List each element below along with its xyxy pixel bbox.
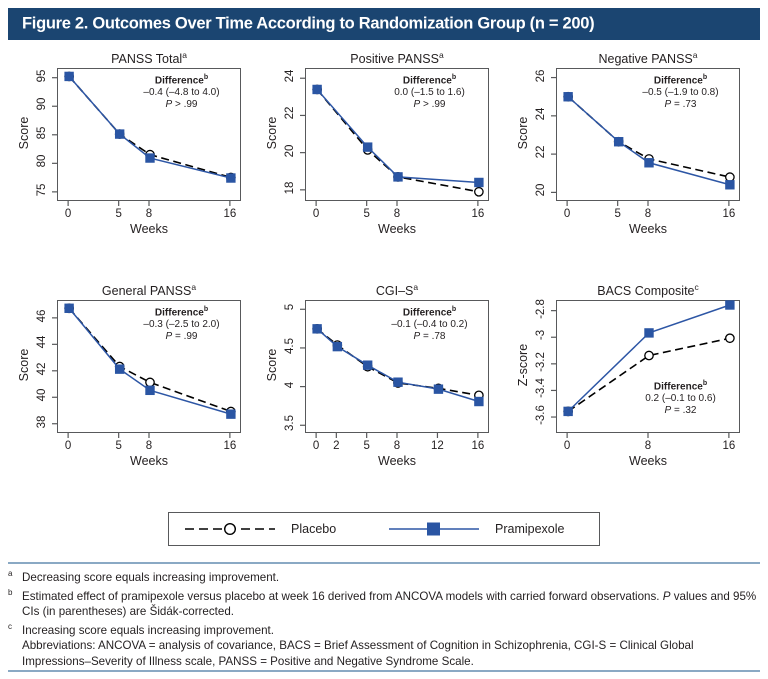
placebo-legend-swatch [183, 520, 279, 538]
annotation-pvalue: P = .32 [627, 405, 734, 417]
pramipexole-legend-swatch [387, 520, 483, 538]
legend-item-pramipexole: Pramipexole [387, 513, 564, 545]
footnote-c-text: Increasing score equals increasing impro… [22, 624, 274, 637]
abbreviations-text: Abbreviations: ANCOVA = analysis of cova… [22, 639, 694, 667]
footnote-a: aDecreasing score equals increasing impr… [8, 566, 760, 585]
footnote-c: cIncreasing score equals increasing impr… [8, 619, 760, 638]
placebo-marker [726, 334, 734, 342]
pramipexole-marker [563, 407, 572, 416]
panel-title-text: BACS Composite [597, 284, 694, 298]
legend-label-pramipexole: Pramipexole [495, 522, 564, 536]
pramipexole-marker [725, 300, 734, 309]
figure-page: Figure 2. Outcomes Over Time According t… [0, 0, 768, 679]
x-axis-title: Weeks [556, 454, 740, 468]
annotation-estimate: 0.2 (–0.1 to 0.6) [627, 393, 734, 405]
x-tick-label: 8 [631, 440, 665, 452]
panel-title-bacs-composite: BACS Compositec [556, 282, 740, 298]
footnote-divider-bottom [8, 670, 760, 672]
x-tick-label: 0 [550, 440, 584, 452]
pramipexole-marker [644, 328, 653, 337]
chart-legend: Placebo Pramipexole [168, 512, 600, 546]
annotation-heading: Differenceb [627, 378, 734, 393]
abbreviations: Abbreviations: ANCOVA = analysis of cova… [8, 638, 760, 668]
y-axis-title: Z-score [516, 310, 530, 420]
annotation-footnote-marker: b [703, 380, 707, 387]
difference-annotation-bacs-composite: Differenceb0.2 (–0.1 to 0.6)P = .32 [627, 378, 734, 417]
x-tick-label: 16 [712, 440, 746, 452]
footnote-b: bEstimated effect of pramipexole versus … [8, 585, 760, 619]
footnotes-block: aDecreasing score equals increasing impr… [8, 566, 760, 669]
footnote-b-text: Estimated effect of pramipexole versus p… [22, 590, 756, 618]
legend-label-placebo: Placebo [291, 522, 336, 536]
y-tick-label: -2.8 [535, 289, 547, 329]
footnote-divider-top [8, 562, 760, 564]
footnote-a-text: Decreasing score equals increasing impro… [22, 571, 279, 584]
panel-title-footnote-marker: c [695, 282, 699, 292]
legend-item-placebo: Placebo [183, 513, 336, 545]
placebo-marker [645, 351, 653, 359]
